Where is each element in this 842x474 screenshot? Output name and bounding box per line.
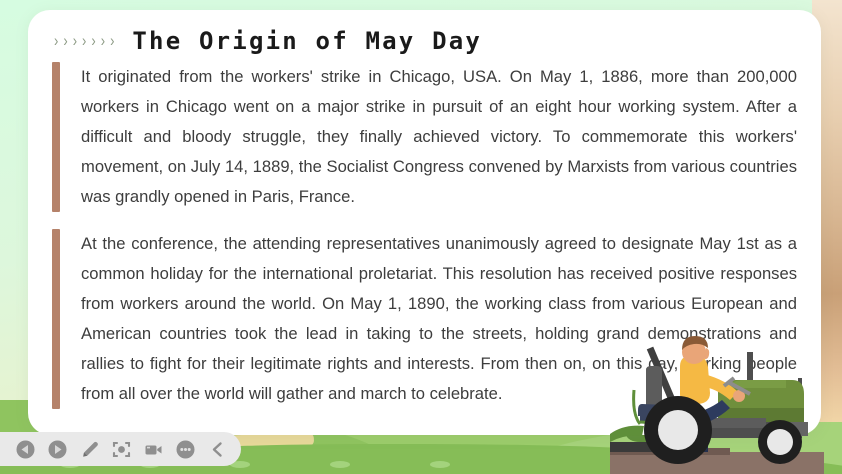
chevron-right-icon: › (54, 32, 58, 48)
previous-icon (16, 440, 35, 459)
chevron-right-icon: › (82, 32, 86, 48)
chevron-right-icon: › (63, 32, 67, 48)
pen-button[interactable] (80, 440, 99, 459)
page-title: The Origin of May Day (132, 27, 482, 55)
title-row: › › › › › › › The Origin of May Day (28, 10, 821, 56)
pencil-icon (80, 440, 99, 459)
paragraph-text-1: It originated from the workers' strike i… (81, 62, 797, 212)
collapse-button[interactable] (208, 440, 227, 459)
chevron-right-icon: › (91, 32, 95, 48)
chevron-right-icon: › (101, 32, 105, 48)
screenshot-icon (112, 440, 131, 459)
video-camera-icon (144, 440, 163, 459)
accent-bar (52, 229, 60, 409)
grass-tuft (430, 461, 450, 468)
chevron-ornament: › › › › › › › (54, 34, 114, 49)
bottom-toolbar[interactable] (0, 432, 241, 466)
record-button[interactable] (144, 440, 163, 459)
more-dots-icon (176, 440, 195, 459)
play-button[interactable] (48, 440, 67, 459)
more-button[interactable] (176, 440, 195, 459)
screenshot-button[interactable] (112, 440, 131, 459)
previous-button[interactable] (16, 440, 35, 459)
accent-bar (52, 62, 60, 212)
play-icon (48, 440, 67, 459)
chevron-right-icon: › (110, 32, 114, 48)
chevron-left-icon (208, 440, 227, 459)
chevron-right-icon: › (73, 32, 77, 48)
farmer-on-tractor-illustration (610, 330, 824, 474)
grass-tuft (330, 461, 350, 468)
paragraph-block-1: It originated from the workers' strike i… (28, 62, 821, 212)
